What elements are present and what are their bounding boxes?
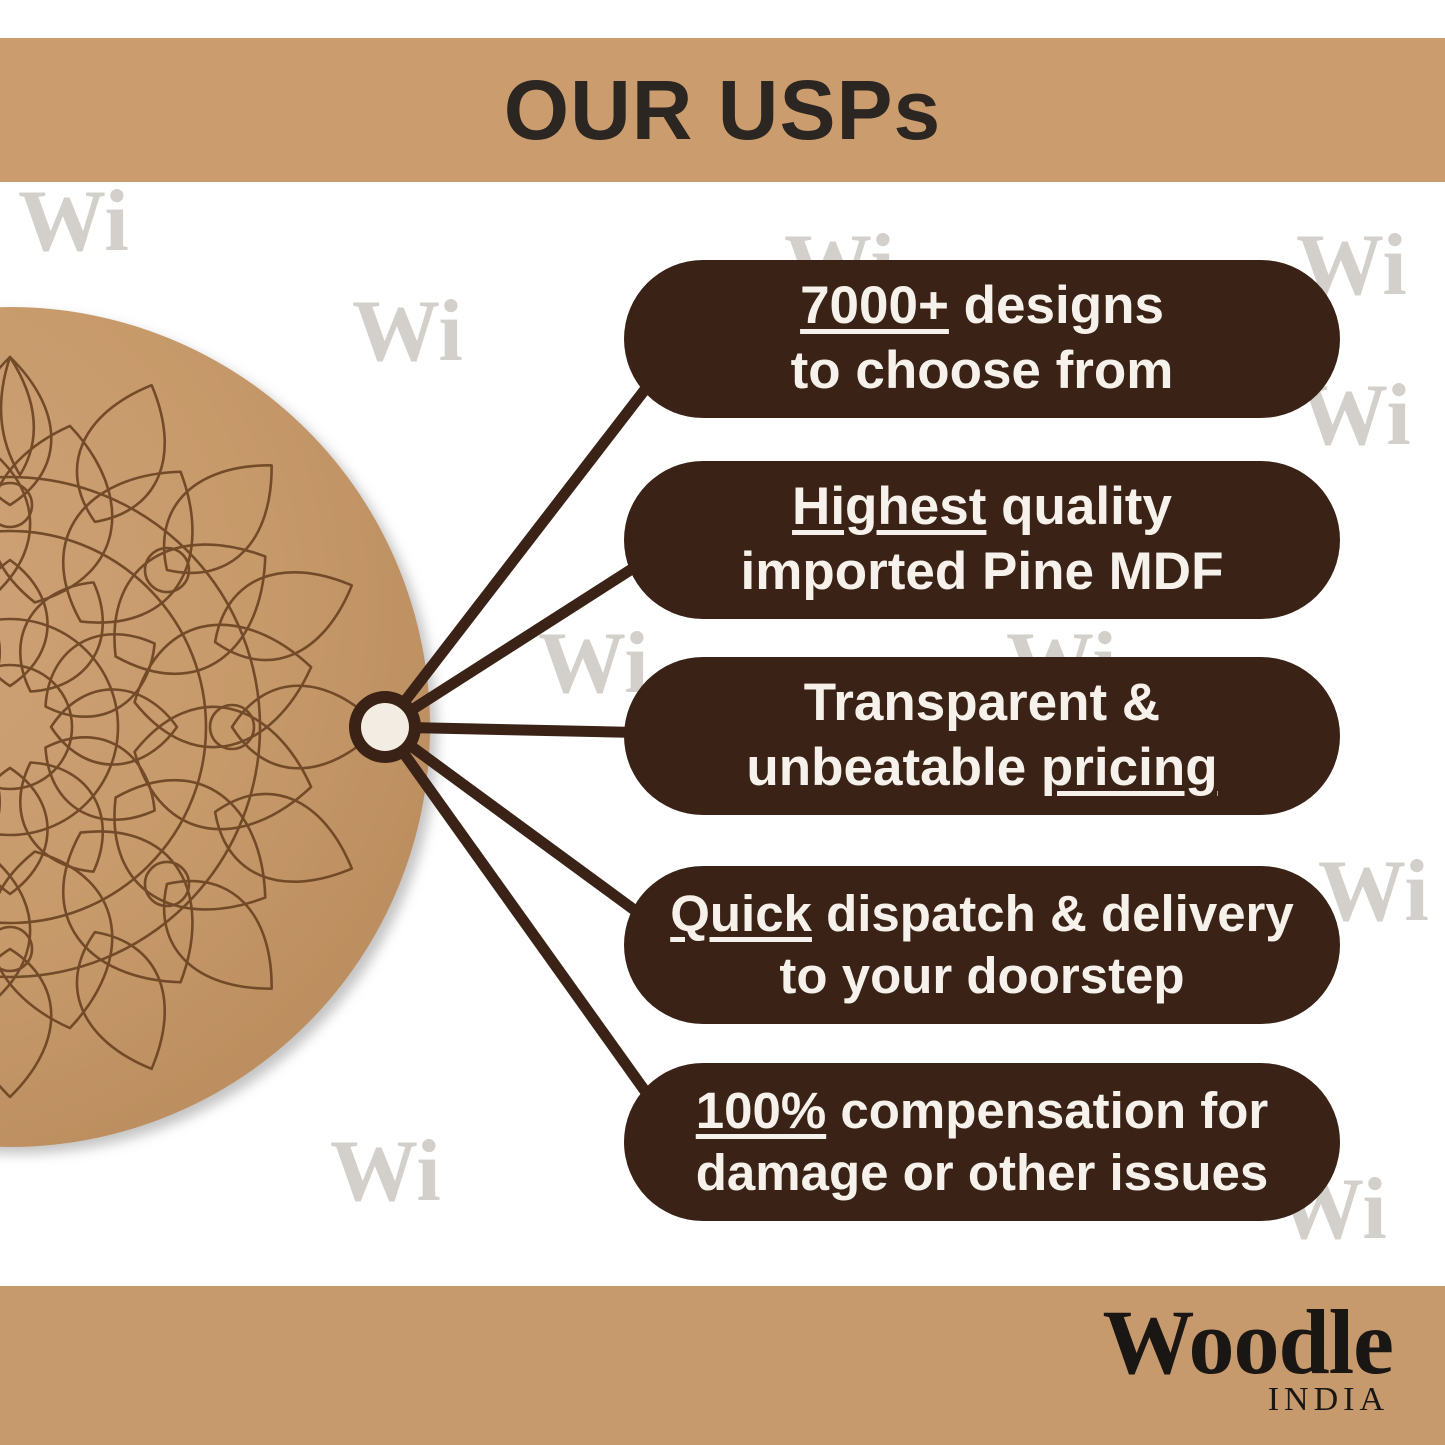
usp-pill-line: to your doorstep	[670, 945, 1294, 1007]
usp-highlight: 7000+	[800, 276, 949, 335]
usp-pill-text: Transparent &unbeatable pricing	[746, 671, 1217, 800]
usp-pill-line: Transparent &	[746, 671, 1217, 736]
usp-pill-line: to choose from	[791, 339, 1174, 404]
usp-pill-text: 100% compensation fordamage or other iss…	[696, 1080, 1269, 1204]
usp-pill-compensation: 100% compensation fordamage or other iss…	[624, 1063, 1340, 1221]
usp-pill-line: 100% compensation for	[696, 1080, 1269, 1142]
brand-logo-word: Woodle	[1103, 1300, 1393, 1385]
usp-pill-pricing: Transparent &unbeatable pricing	[624, 657, 1340, 815]
usp-pill-text: Quick dispatch & deliveryto your doorste…	[670, 883, 1294, 1007]
usp-pill-text: 7000+ designsto choose from	[791, 274, 1174, 403]
usp-pill-dispatch-delivery: Quick dispatch & deliveryto your doorste…	[624, 866, 1340, 1024]
usp-pill-designs-count: 7000+ designsto choose from	[624, 260, 1340, 418]
usp-pill-line: imported Pine MDF	[741, 540, 1224, 605]
page-title: OUR USPs	[0, 38, 1445, 182]
brand-logo: Woodle INDIA	[1103, 1300, 1393, 1419]
usp-pill-text: Highest qualityimported Pine MDF	[741, 475, 1224, 604]
usp-pill-line: damage or other issues	[696, 1142, 1269, 1204]
usp-highlight: pricing	[1041, 738, 1218, 797]
connector-line-4	[385, 727, 660, 1112]
usp-pill-line: unbeatable pricing	[746, 736, 1217, 801]
usp-highlight: 100%	[696, 1082, 826, 1139]
usp-pill-material-quality: Highest qualityimported Pine MDF	[624, 461, 1340, 619]
connector-line-3	[385, 727, 648, 920]
usp-pill-line: Quick dispatch & delivery	[670, 883, 1294, 945]
usp-highlight: Quick	[670, 885, 812, 942]
connector-line-2	[385, 727, 660, 733]
usp-highlight: Highest	[792, 477, 986, 536]
poster-canvas: WiWiWiWiWiWiWiWiWiWi	[0, 0, 1445, 1445]
hub-node	[349, 691, 421, 763]
usp-pill-line: 7000+ designs	[791, 274, 1174, 339]
connector-line-1	[385, 560, 646, 727]
usp-pill-line: Highest quality	[741, 475, 1224, 540]
connector-line-0	[385, 370, 660, 727]
